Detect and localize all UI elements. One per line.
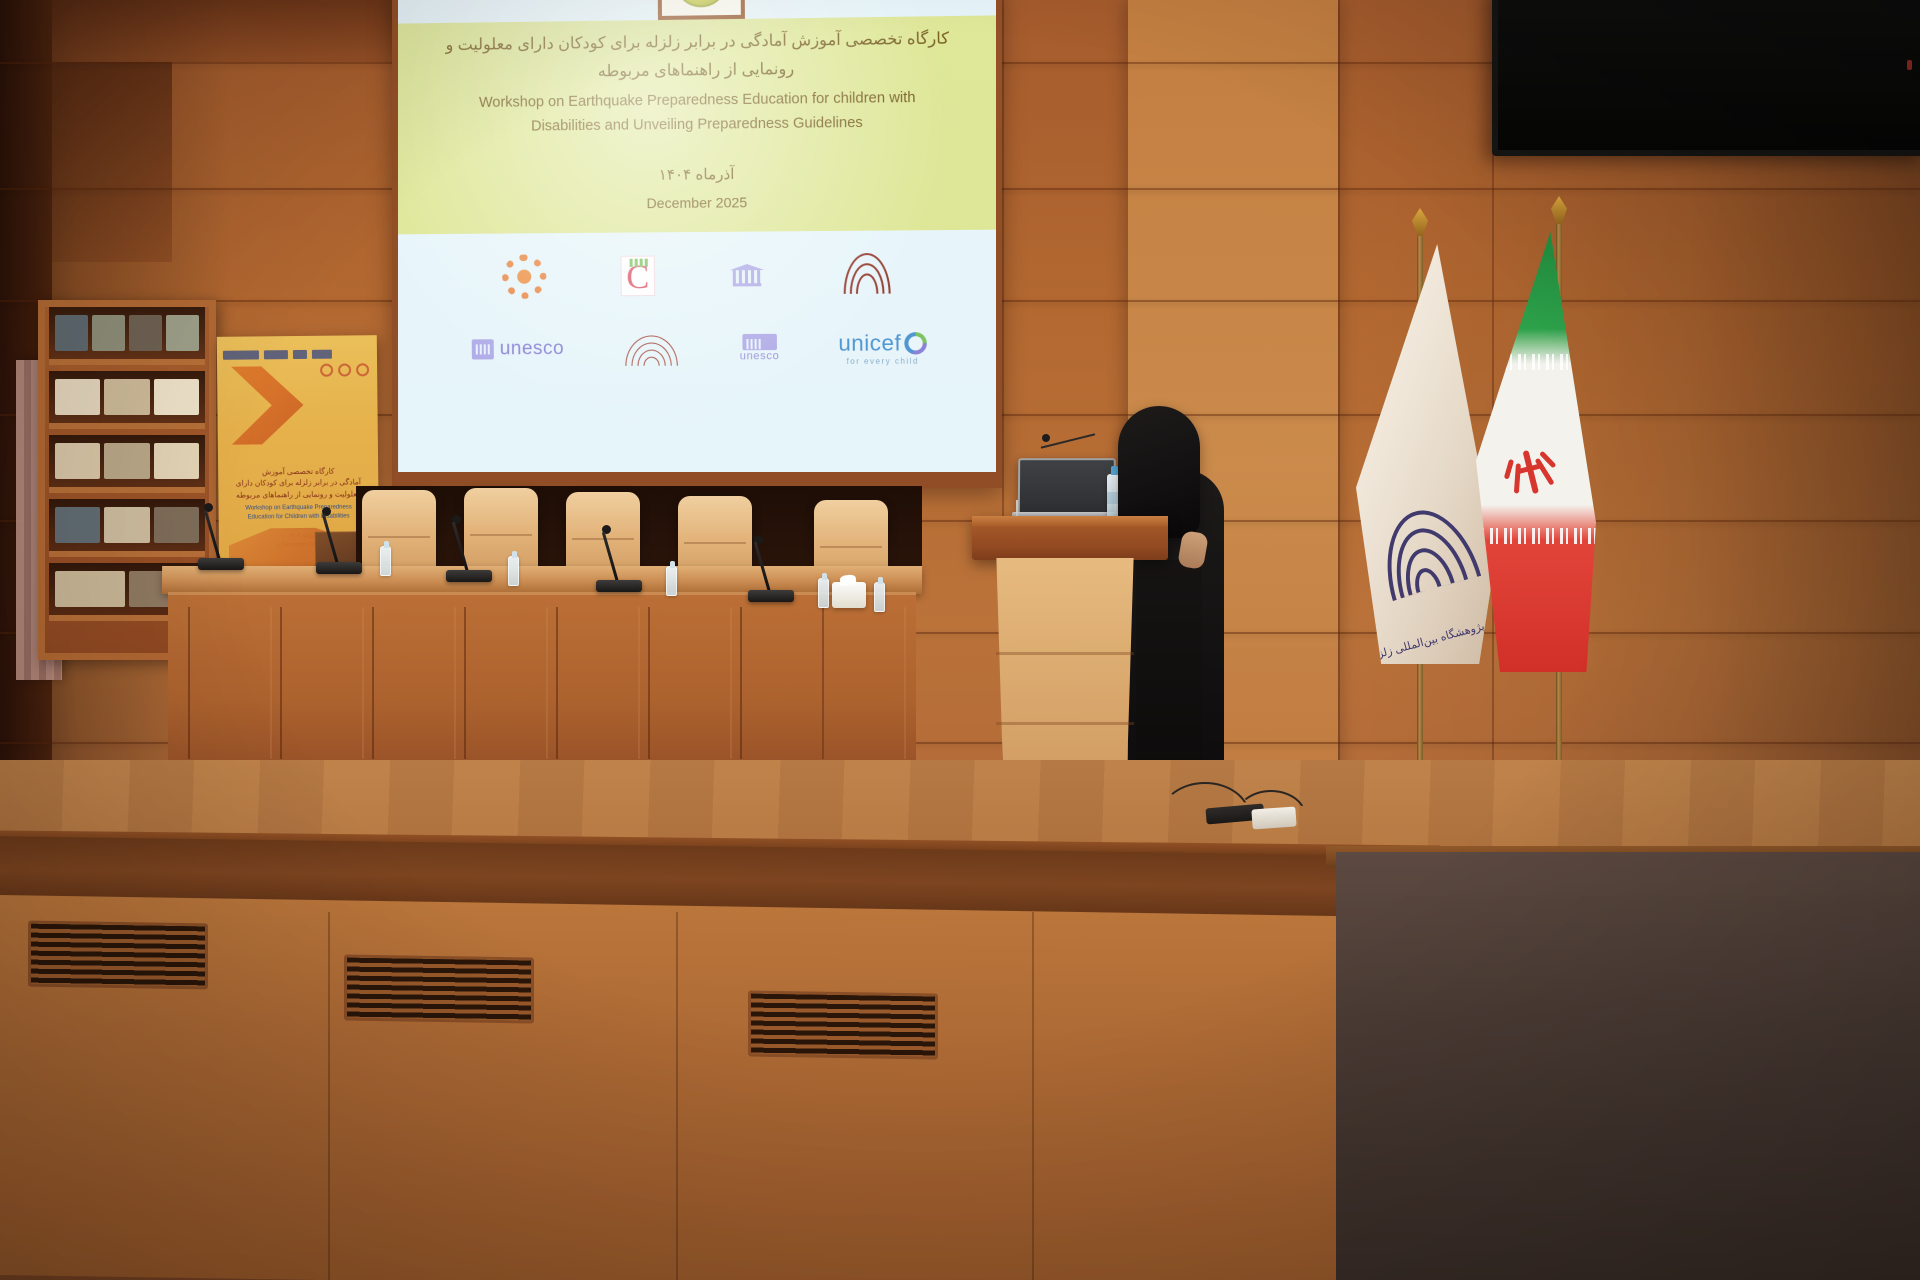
rollup-badge-icon	[356, 363, 369, 376]
table-microphone	[198, 500, 244, 570]
table-water-bottle	[380, 546, 391, 576]
rollup-badge-icon	[338, 363, 351, 376]
rollup-title-fa: کارگاه تخصصی آموزش آمادگی در برابر زلزله…	[224, 465, 372, 500]
unicef-tagline: for every child	[847, 356, 919, 365]
red-crescent-logo	[620, 256, 655, 297]
unesco-small-logo: unesco	[740, 334, 780, 363]
table-microphone	[446, 510, 492, 582]
ring-seal-icon	[502, 254, 546, 299]
microphone-base	[596, 580, 642, 592]
iran-national-emblem-icon	[1503, 445, 1559, 501]
head-table-panel	[464, 607, 548, 759]
microphone-base	[198, 558, 244, 570]
podium-microphone-head-icon	[1042, 434, 1050, 442]
head-table-panel	[822, 607, 906, 759]
bookcase-items	[55, 443, 199, 479]
rollup-logo-chip	[264, 350, 288, 359]
shelf-item	[104, 507, 149, 543]
shelf-item	[154, 443, 199, 479]
shelf-item	[166, 315, 199, 351]
unesco-block-icon	[472, 339, 494, 359]
microphone-base	[748, 590, 794, 602]
floor-carpet-area	[1336, 852, 1920, 1280]
head-table-panel	[556, 607, 640, 759]
microphone-stem	[322, 514, 339, 565]
rollup-partner-logos	[223, 345, 371, 363]
bookcase-items	[55, 379, 199, 415]
vent-louvers	[751, 994, 935, 1057]
table-water-bottle	[874, 582, 885, 612]
unicef-globe-icon	[904, 332, 927, 355]
white-power-adapter	[1251, 806, 1296, 829]
rollup-logo-chip	[223, 350, 259, 359]
emblem-seal-icon	[675, 0, 728, 8]
table-water-bottle	[508, 556, 519, 586]
unesco-wordmark-logo: unesco	[472, 338, 565, 361]
shelf-item	[55, 507, 100, 543]
wall-dark-band-upper	[52, 0, 392, 62]
iiees-arc-icon	[839, 249, 895, 300]
table-microphone	[748, 530, 794, 602]
slide-framed-emblem	[657, 0, 745, 20]
shelf-item	[55, 571, 125, 607]
rollup-icon-row	[320, 363, 369, 377]
head-table-panel	[280, 607, 364, 759]
flag-kufic-band-red	[1476, 528, 1596, 544]
head-table-panel	[372, 607, 456, 759]
unesco-temple-icon	[730, 262, 765, 289]
bookcase-items	[55, 507, 199, 543]
slide-logos-row-secondary: unesco unesco unicef	[398, 321, 996, 374]
rollup-logo-chip	[312, 349, 332, 358]
stage-air-vent	[748, 991, 938, 1060]
shelf-item	[104, 379, 149, 415]
tissue-box	[832, 582, 866, 608]
rollup-logo-chip	[293, 349, 307, 358]
head-table-top	[162, 566, 922, 594]
shelf-item	[129, 315, 162, 351]
bookcase-shelf	[49, 435, 205, 493]
presentation-slide: کارگاه تخصصی آموزش آمادگی در برابر زلزله…	[398, 0, 996, 472]
shelf-item	[55, 315, 88, 351]
stage-front-face	[0, 895, 1400, 1280]
head-table-panel	[648, 607, 732, 759]
unesco-wordmark-label: unesco	[500, 338, 565, 360]
shelf-item	[55, 379, 100, 415]
wall-mounted-monitor[interactable]	[1492, 0, 1920, 156]
microphone-stem	[754, 542, 771, 593]
red-crescent-icon	[620, 256, 655, 297]
bookcase-shelf	[49, 371, 205, 429]
shelf-item	[55, 443, 100, 479]
rollup-chevron-graphic	[231, 366, 304, 445]
iiees-seismic-arcs-icon	[1378, 504, 1474, 590]
unicef-wordmark-label: unicef	[838, 330, 901, 357]
rollup-title-fa-line2: آمادگی در برابر زلزله برای کودکان دارای	[224, 476, 372, 489]
speaking-podium	[992, 558, 1138, 794]
unesco-small-label: unesco	[740, 350, 780, 362]
vent-louvers	[31, 924, 205, 987]
stage-air-vent	[344, 955, 534, 1024]
podium-seam	[996, 652, 1134, 655]
head-table-panel	[188, 607, 272, 759]
ring-seal-logo	[502, 254, 546, 299]
shelf-item	[154, 379, 199, 415]
table-water-bottle	[818, 578, 829, 608]
monitor-power-led	[1907, 60, 1912, 70]
table-microphone	[596, 520, 642, 592]
table-microphone	[316, 502, 362, 574]
shelf-item	[154, 507, 199, 543]
shelf-item	[92, 315, 125, 351]
bookcase-shelf	[49, 499, 205, 557]
stage-air-vent	[28, 921, 208, 990]
podium-seam	[996, 722, 1134, 725]
rollup-badge-icon	[320, 364, 333, 377]
wall-dark-band-left	[52, 62, 172, 262]
microphone-stem	[452, 522, 469, 573]
microphone-stem	[204, 510, 221, 561]
slide-logos-row-primary	[398, 240, 996, 311]
rollup-title-fa-line3: معلولیت و رونمایی از راهنماهای مربوطه	[224, 488, 372, 501]
podium-top-surface	[972, 516, 1168, 560]
stage-panel-divider	[1032, 912, 1034, 1280]
microphone-stem	[602, 532, 619, 583]
seismic-wave-logo	[622, 331, 681, 366]
stage-panel-divider	[676, 912, 678, 1280]
microphone-base	[446, 570, 492, 582]
seismic-wave-icon	[622, 331, 681, 366]
stage-panel-divider	[328, 912, 330, 1280]
unicef-logo: unicef for every child	[838, 330, 927, 366]
head-table-panel	[740, 607, 824, 759]
table-water-bottle	[666, 566, 677, 596]
projection-screen: کارگاه تخصصی آموزش آمادگی در برابر زلزله…	[398, 0, 996, 472]
unesco-temple-logo	[730, 262, 765, 289]
head-table-front	[168, 592, 916, 770]
auditorium-photo: کارگاه تخصصی آموزش آمادگی در برابر زلزله…	[0, 0, 1920, 1280]
shelf-item	[104, 443, 149, 479]
bookcase-shelf	[49, 307, 205, 365]
microphone-base	[316, 562, 362, 574]
vent-louvers	[347, 958, 531, 1021]
unesco-small-block-icon	[742, 334, 777, 350]
iiees-arc-logo	[839, 249, 895, 300]
bookcase-items	[55, 315, 199, 351]
